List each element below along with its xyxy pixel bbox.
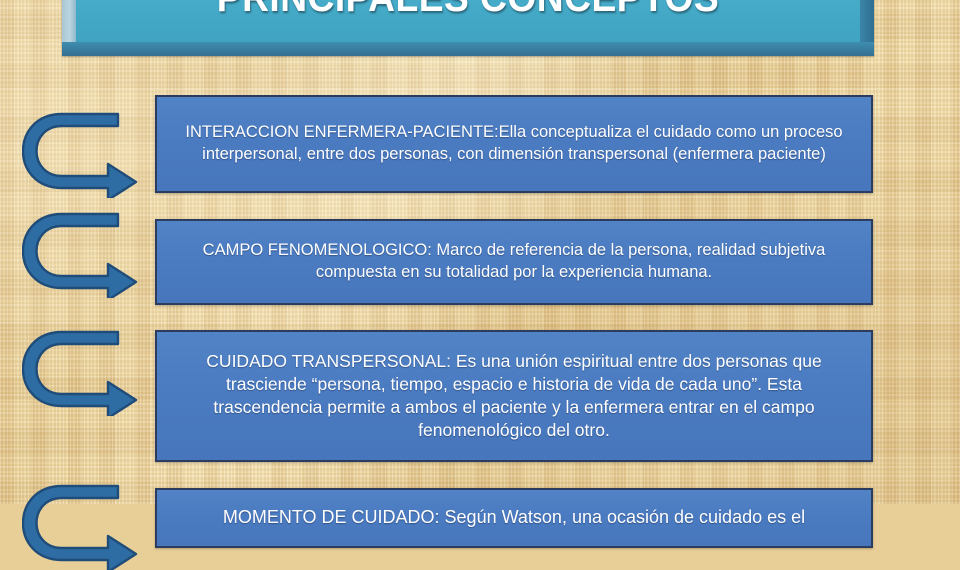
u-turn-arrow-icon bbox=[22, 112, 146, 198]
concept-box: CAMPO FENOMENOLOGICO: Marco de referenci… bbox=[155, 219, 873, 305]
u-turn-arrow-icon bbox=[22, 212, 146, 298]
title-bevel-bottom bbox=[62, 42, 874, 56]
u-turn-arrow-icon bbox=[22, 330, 146, 416]
concept-text: CAMPO FENOMENOLOGICO: Marco de referenci… bbox=[171, 240, 857, 284]
u-turn-arrow-icon bbox=[22, 484, 146, 570]
concept-box: CUIDADO TRANSPERSONAL: Es una unión espi… bbox=[155, 330, 873, 462]
concept-box: MOMENTO DE CUIDADO: Según Watson, una oc… bbox=[155, 488, 873, 548]
page-title: PRINCIPALES CONCEPTOS bbox=[103, 0, 832, 42]
concept-text: MOMENTO DE CUIDADO: Según Watson, una oc… bbox=[223, 506, 805, 530]
concept-text: INTERACCION ENFERMERA-PACIENTE:Ella conc… bbox=[171, 122, 857, 166]
concept-box: INTERACCION ENFERMERA-PACIENTE:Ella conc… bbox=[155, 95, 873, 193]
concept-text: CUIDADO TRANSPERSONAL: Es una unión espi… bbox=[171, 350, 857, 442]
slide-title-banner: PRINCIPALES CONCEPTOS bbox=[62, 0, 874, 56]
